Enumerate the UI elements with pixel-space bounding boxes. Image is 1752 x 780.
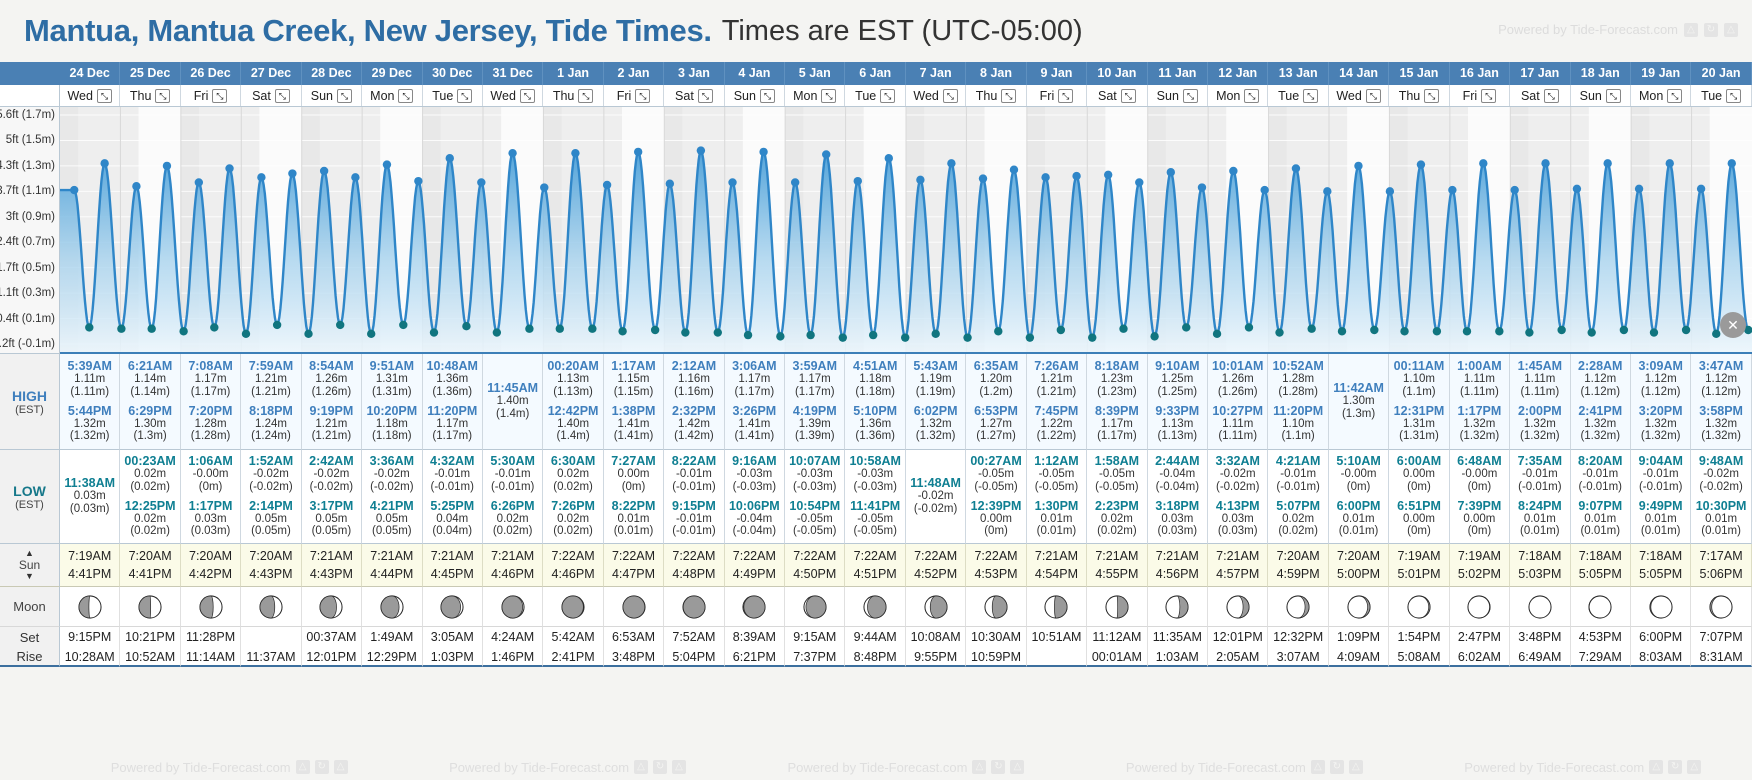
low-tide-time-5-1: 4:21PM — [362, 499, 421, 513]
weekday-cell-25: Sun⤡ — [1571, 85, 1631, 106]
moon-phase-icon-12 — [802, 594, 828, 620]
high-tide-time-11-0: 3:06AM — [725, 359, 784, 373]
sun-cell-9: 7:22AM4:47PM — [604, 544, 664, 587]
high-tide-height-alt-10-1: (1.42m) — [664, 430, 723, 443]
sunrise-time-2: 7:20AM — [181, 547, 240, 565]
high-tide-cell-5: 9:51AM1.31m(1.31m)10:20PM1.18m(1.18m) — [362, 354, 422, 450]
high-tide-height-alt-15-0: (1.2m) — [966, 386, 1025, 399]
moon-cell-0 — [60, 587, 120, 627]
moonset-cell-2: 11:28PM — [181, 627, 241, 647]
expand-day-icon-19[interactable]: ⤡ — [1244, 89, 1259, 103]
low-tide-height-alt-20-0: (-0.01m) — [1268, 481, 1327, 494]
wave-icon-footer-0-2: △ — [334, 760, 348, 774]
sun-cell-7: 7:21AM4:46PM — [483, 544, 543, 587]
moonrise-cell-27: 8:31AM — [1691, 647, 1751, 667]
sun-cell-4: 7:21AM4:43PM — [302, 544, 362, 587]
date-header-19[interactable]: 12 Jan — [1208, 62, 1268, 85]
low-tide-point-27 — [493, 328, 501, 336]
sun-cell-21: 7:20AM5:00PM — [1329, 544, 1389, 587]
expand-day-icon-15[interactable]: ⤡ — [1001, 89, 1016, 103]
high-tide-point-18 — [351, 173, 359, 181]
high-tide-height-alt-22-1: (1.31m) — [1389, 430, 1448, 443]
sunrise-time-17: 7:21AM — [1087, 547, 1146, 565]
moonset-cell-13: 9:44AM — [845, 627, 905, 647]
expand-day-icon-20[interactable]: ⤡ — [1303, 89, 1318, 103]
high-tide-time-20-1: 11:20PM — [1268, 404, 1327, 418]
low-tide-time-5-0: 3:36AM — [362, 454, 421, 468]
high-tide-entry-2-1: 7:20PM1.28m(1.28m) — [181, 402, 240, 447]
y-tick-1: 5ft (1.5m) — [6, 134, 55, 146]
weekday-cell-15: Thu⤡ — [966, 85, 1026, 106]
wind-icon-footer-0-0: △ — [296, 760, 310, 774]
expand-day-icon-1[interactable]: ⤡ — [155, 89, 170, 103]
low-tide-height-10-1: -0.01m — [664, 513, 723, 526]
date-header-11[interactable]: 4 Jan — [725, 62, 785, 85]
date-header-23[interactable]: 16 Jan — [1450, 62, 1510, 85]
expand-day-icon-7[interactable]: ⤡ — [520, 89, 535, 103]
y-tick-0: 5.6ft (1.7m) — [0, 109, 55, 121]
high-tide-height-6-1: 1.17m — [423, 418, 482, 431]
date-header-9[interactable]: 2 Jan — [604, 62, 664, 85]
low-tide-entry-14-0: 11:48AM-0.02m(-0.02m) — [906, 450, 965, 543]
high-tide-entry-15-0: 6:35AM1.20m(1.2m) — [966, 357, 1025, 402]
moonset-cell-22: 1:54PM — [1389, 627, 1449, 647]
sun-cell-23: 7:19AM5:02PM — [1450, 544, 1510, 587]
date-header-16[interactable]: 9 Jan — [1027, 62, 1087, 85]
date-header-10[interactable]: 3 Jan — [664, 62, 724, 85]
date-header-8[interactable]: 1 Jan — [543, 62, 603, 85]
moonrise-cell-23: 6:02AM — [1450, 647, 1510, 667]
expand-day-icon-3[interactable]: ⤡ — [275, 89, 290, 103]
high-tide-time-6-0: 10:48AM — [423, 359, 482, 373]
low-tide-height-alt-1-0: (0.02m) — [120, 481, 179, 494]
high-tide-height-12-1: 1.39m — [785, 418, 844, 431]
low-tide-point-67 — [1119, 325, 1127, 333]
date-header-15[interactable]: 8 Jan — [966, 62, 1026, 85]
moon-phase-icon-27 — [1708, 594, 1734, 620]
low-tide-time-10-1: 9:15PM — [664, 499, 723, 513]
expand-day-icon-0[interactable]: ⤡ — [97, 89, 112, 103]
expand-day-icon-16[interactable]: ⤡ — [1058, 89, 1073, 103]
low-tide-cell-16: 1:12AM-0.05m(-0.05m)1:30PM0.01m(0.01m) — [1027, 450, 1087, 544]
date-header-5[interactable]: 29 Dec — [362, 62, 422, 85]
low-tide-time-10-0: 8:22AM — [664, 454, 723, 468]
high-tide-time-9-1: 1:38PM — [604, 404, 663, 418]
low-tide-point-15 — [304, 330, 312, 338]
low-tide-height-22-0: 0.00m — [1389, 468, 1448, 481]
low-tide-height-6-1: 0.04m — [423, 513, 482, 526]
low-tide-cell-6: 4:32AM-0.01m(-0.01m)5:25PM0.04m(0.04m) — [423, 450, 483, 544]
date-header-13[interactable]: 6 Jan — [845, 62, 905, 85]
low-tide-height-15-1: 0.00m — [966, 513, 1025, 526]
high-tide-entry-3-0: 7:59AM1.21m(1.21m) — [241, 357, 300, 402]
high-tide-point-2 — [100, 159, 108, 167]
moonset-cell-11: 8:39AM — [725, 627, 785, 647]
expand-day-icon-8[interactable]: ⤡ — [578, 89, 593, 103]
date-header-row: 24 Dec25 Dec26 Dec27 Dec28 Dec29 Dec30 D… — [0, 62, 1752, 85]
date-header-6[interactable]: 30 Dec — [423, 62, 483, 85]
high-tide-point-10 — [225, 164, 233, 172]
low-tide-entry-20-0: 4:21AM-0.01m(-0.01m) — [1268, 452, 1327, 497]
expand-day-icon-11[interactable]: ⤡ — [760, 89, 775, 103]
low-tide-height-26-1: 0.01m — [1631, 513, 1690, 526]
high-tide-time-13-0: 4:51AM — [845, 359, 904, 373]
low-tide-cell-27: 9:48AM-0.02m(-0.02m)10:30PM0.01m(0.01m) — [1691, 450, 1751, 544]
high-tide-cell-27: 3:47AM1.12m(1.12m)3:58PM1.32m(1.32m) — [1691, 354, 1751, 450]
high-tide-height-23-0: 1.11m — [1450, 373, 1509, 386]
low-tide-point-5 — [147, 325, 155, 333]
high-tide-height-alt-14-1: (1.32m) — [906, 430, 965, 443]
high-tide-entry-25-0: 2:28AM1.12m(1.12m) — [1571, 357, 1630, 402]
sunset-time-14: 4:52PM — [906, 565, 965, 583]
weekday-cell-8: Thu⤡ — [543, 85, 603, 106]
moonset-cell-1: 10:21PM — [120, 627, 180, 647]
high-tide-cell-26: 3:09AM1.12m(1.12m)3:20PM1.32m(1.32m) — [1631, 354, 1691, 450]
expand-day-icon-6[interactable]: ⤡ — [457, 89, 472, 103]
low-tide-point-57 — [963, 333, 971, 341]
moonset-cell-21: 1:09PM — [1329, 627, 1389, 647]
high-tide-height-3-0: 1.21m — [241, 373, 300, 386]
low-tide-entry-18-0: 2:44AM-0.04m(-0.04m) — [1148, 452, 1207, 497]
high-tide-entry-22-1: 12:31PM1.31m(1.31m) — [1389, 402, 1448, 447]
high-tide-height-alt-14-0: (1.19m) — [906, 386, 965, 399]
low-tide-height-3-1: 0.05m — [241, 513, 300, 526]
weekday-label-0: Wed — [67, 85, 92, 106]
expand-day-icon-26[interactable]: ⤡ — [1667, 89, 1682, 103]
moon-phase-icon-16 — [1043, 594, 1069, 620]
moon-phase-icon-26 — [1648, 594, 1674, 620]
moon-phase-icon-2 — [198, 594, 224, 620]
sun-cell-18: 7:21AM4:56PM — [1148, 544, 1208, 587]
sunrise-time-24: 7:18AM — [1510, 547, 1569, 565]
high-tide-entry-11-1: 3:26PM1.41m(1.41m) — [725, 402, 784, 447]
sunset-time-24: 5:03PM — [1510, 565, 1569, 583]
sunset-time-1: 4:41PM — [120, 565, 179, 583]
moon-cell-13 — [845, 587, 905, 627]
low-tide-height-1-1: 0.02m — [120, 513, 179, 526]
high-tide-entry-9-1: 1:38PM1.41m(1.41m) — [604, 402, 663, 447]
low-tide-height-alt-8-0: (0.02m) — [543, 481, 602, 494]
high-tide-time-15-1: 6:53PM — [966, 404, 1025, 418]
date-header-24[interactable]: 17 Jan — [1510, 62, 1570, 85]
low-tide-height-alt-12-0: (-0.03m) — [785, 481, 844, 494]
high-tide-entry-26-1: 3:20PM1.32m(1.32m) — [1631, 402, 1690, 447]
tide-chart-row: 5.6ft (1.7m)5ft (1.5m)4.3ft (1.3m)3.7ft … — [0, 107, 1752, 354]
high-tide-entry-10-1: 2:32PM1.42m(1.42m) — [664, 402, 723, 447]
moon-cell-8 — [543, 587, 603, 627]
low-tide-point-73 — [1213, 330, 1221, 338]
sunset-time-5: 4:44PM — [362, 565, 421, 583]
low-tide-cell-4: 2:42AM-0.02m(-0.02m)3:17PM0.05m(0.05m) — [302, 450, 362, 544]
date-header-20[interactable]: 13 Jan — [1268, 62, 1328, 85]
moon-phase-icon-8 — [560, 594, 586, 620]
low-tide-point-7 — [179, 327, 187, 335]
close-overlay-button[interactable]: ✕ — [1720, 312, 1746, 338]
high-tide-height-18-1: 1.13m — [1148, 418, 1207, 431]
low-tide-entry-4-1: 3:17PM0.05m(0.05m) — [302, 497, 361, 542]
expand-day-icon-2[interactable]: ⤡ — [212, 89, 227, 103]
high-tide-height-16-0: 1.21m — [1027, 373, 1086, 386]
moon-phase-icon-11 — [741, 594, 767, 620]
moonset-cell-8: 5:42AM — [543, 627, 603, 647]
high-tide-entry-19-1: 10:27PM1.11m(1.11m) — [1208, 402, 1267, 447]
moon-cell-18 — [1148, 587, 1208, 627]
high-tide-point-16 — [320, 167, 328, 175]
date-header-14[interactable]: 7 Jan — [906, 62, 966, 85]
moon-cell-22 — [1389, 587, 1449, 627]
low-tide-height-4-0: -0.02m — [302, 468, 361, 481]
low-tide-point-81 — [1338, 327, 1346, 335]
high-tide-entry-16-0: 7:26AM1.21m(1.21m) — [1027, 357, 1086, 402]
low-tide-height-0-0: 0.03m — [60, 490, 119, 503]
weekday-label-4: Sun — [311, 85, 333, 106]
low-tide-height-alt-19-0: (-0.02m) — [1208, 481, 1267, 494]
low-tide-height-alt-25-0: (-0.01m) — [1571, 481, 1630, 494]
moonset-cell-0: 9:15PM — [60, 627, 120, 647]
high-tide-height-alt-3-1: (1.24m) — [241, 430, 300, 443]
low-tide-point-65 — [1088, 333, 1096, 341]
high-tide-entry-11-0: 3:06AM1.17m(1.17m) — [725, 357, 784, 402]
date-header-1[interactable]: 25 Dec — [120, 62, 180, 85]
high-tide-height-2-0: 1.17m — [181, 373, 240, 386]
expand-day-icon-4[interactable]: ⤡ — [337, 89, 352, 103]
low-tide-cell-24: 7:35AM-0.01m(-0.01m)8:24PM0.01m(0.01m) — [1510, 450, 1570, 544]
high-tide-point-62 — [1041, 173, 1049, 181]
high-tide-entry-18-0: 9:10AM1.25m(1.25m) — [1148, 357, 1207, 402]
high-tide-label: HIGH (EST) — [0, 354, 60, 450]
date-header-17[interactable]: 10 Jan — [1087, 62, 1147, 85]
low-tide-cell-5: 3:36AM-0.02m(-0.02m)4:21PM0.05m(0.05m) — [362, 450, 422, 544]
expand-day-icon-25[interactable]: ⤡ — [1606, 89, 1621, 103]
low-tide-time-11-1: 10:06PM — [725, 499, 784, 513]
low-tide-height-alt-23-1: (0m) — [1450, 525, 1509, 538]
moonrise-cell-16 — [1027, 647, 1087, 667]
weekday-label-26: Mon — [1639, 85, 1663, 106]
high-tide-entry-3-1: 8:18PM1.24m(1.24m) — [241, 402, 300, 447]
high-tide-height-alt-12-0: (1.17m) — [785, 386, 844, 399]
expand-day-icon-10[interactable]: ⤡ — [698, 89, 713, 103]
weekday-cell-19: Mon⤡ — [1208, 85, 1268, 106]
low-tide-time-2-1: 1:17PM — [181, 499, 240, 513]
y-tick-7: 1.1ft (0.3m) — [0, 287, 55, 299]
high-tide-time-9-0: 1:17AM — [604, 359, 663, 373]
expand-day-icon-12[interactable]: ⤡ — [821, 89, 836, 103]
high-tide-time-27-1: 3:58PM — [1691, 404, 1750, 418]
weekday-cell-26: Mon⤡ — [1631, 85, 1691, 106]
high-label-text: HIGH — [12, 388, 47, 404]
high-tide-height-alt-15-1: (1.27m) — [966, 430, 1025, 443]
low-tide-point-17 — [336, 321, 344, 329]
high-tide-entry-20-1: 11:20PM1.10m(1.1m) — [1268, 402, 1327, 447]
low-tide-height-alt-18-1: (0.03m) — [1148, 525, 1207, 538]
date-header-3[interactable]: 27 Dec — [241, 62, 301, 85]
moonrise-cell-22: 5:08AM — [1389, 647, 1449, 667]
weekday-cell-24: Sat⤡ — [1510, 85, 1570, 106]
low-tide-point-47 — [806, 331, 814, 339]
high-tide-height-alt-2-0: (1.17m) — [181, 386, 240, 399]
footer-watermark-0: Powered by Tide-Forecast.com△↻△ — [111, 760, 348, 775]
high-tide-height-23-1: 1.32m — [1450, 418, 1509, 431]
low-tide-cell-13: 10:58AM-0.03m(-0.03m)11:41PM-0.05m(-0.05… — [845, 450, 905, 544]
low-tide-cell-22: 6:00AM0.00m(0m)6:51PM0.00m(0m) — [1389, 450, 1449, 544]
high-tide-entry-21-0: 11:42AM1.30m(1.3m) — [1329, 354, 1388, 449]
sunset-time-10: 4:48PM — [664, 565, 723, 583]
date-header-7[interactable]: 31 Dec — [483, 62, 543, 85]
weekday-label-18: Sun — [1157, 85, 1179, 106]
high-tide-point-42 — [728, 178, 736, 186]
low-tide-entry-4-0: 2:42AM-0.02m(-0.02m) — [302, 452, 361, 497]
weekday-label-7: Wed — [490, 85, 515, 106]
moon-cell-14 — [906, 587, 966, 627]
high-tide-entry-24-1: 2:00PM1.32m(1.32m) — [1510, 402, 1569, 447]
low-tide-time-3-0: 1:52AM — [241, 454, 300, 468]
high-tide-height-alt-4-1: (1.21m) — [302, 430, 361, 443]
high-tide-point-86 — [1417, 160, 1425, 168]
low-tide-height-7-1: 0.02m — [483, 513, 542, 526]
date-header-0[interactable]: 24 Dec — [60, 62, 120, 85]
footer-watermark-1: Powered by Tide-Forecast.com△↻△ — [449, 760, 686, 775]
high-tide-entry-13-1: 5:10PM1.36m(1.36m) — [845, 402, 904, 447]
low-tide-entry-15-1: 12:39PM0.00m(0m) — [966, 497, 1025, 542]
moon-cell-2 — [181, 587, 241, 627]
high-tide-point-76 — [1260, 186, 1268, 194]
high-tide-entry-22-0: 00:11AM1.10m(1.1m) — [1389, 357, 1448, 402]
high-tide-entry-13-0: 4:51AM1.18m(1.18m) — [845, 357, 904, 402]
low-tide-time-13-1: 11:41PM — [845, 499, 904, 513]
low-tide-time-6-0: 4:32AM — [423, 454, 482, 468]
expand-day-icon-13[interactable]: ⤡ — [880, 89, 895, 103]
high-tide-time-24-0: 1:45AM — [1510, 359, 1569, 373]
high-tide-time-27-0: 3:47AM — [1691, 359, 1750, 373]
high-tide-height-alt-23-1: (1.32m) — [1450, 430, 1509, 443]
date-header-22[interactable]: 15 Jan — [1389, 62, 1449, 85]
high-tide-cell-1: 6:21AM1.14m(1.14m)6:29PM1.30m(1.3m) — [120, 354, 180, 450]
weekday-label-11: Sun — [734, 85, 756, 106]
low-tide-point-21 — [399, 321, 407, 329]
expand-day-icon-14[interactable]: ⤡ — [943, 89, 958, 103]
high-tide-time-18-1: 9:33PM — [1148, 404, 1207, 418]
low-tide-time-23-1: 7:39PM — [1450, 499, 1509, 513]
expand-day-icon-23[interactable]: ⤡ — [1481, 89, 1496, 103]
weekday-label-12: Mon — [793, 85, 817, 106]
high-tide-cell-21: 11:42AM1.30m(1.3m) — [1329, 354, 1389, 450]
high-tide-height-27-1: 1.32m — [1691, 418, 1750, 431]
low-tide-cell-3: 1:52AM-0.02m(-0.02m)2:14PM0.05m(0.05m) — [241, 450, 301, 544]
expand-day-icon-5[interactable]: ⤡ — [398, 89, 413, 103]
sunset-time-4: 4:43PM — [302, 565, 361, 583]
low-tide-point-41 — [714, 328, 722, 336]
date-header-12[interactable]: 5 Jan — [785, 62, 845, 85]
date-header-2[interactable]: 26 Dec — [181, 62, 241, 85]
y-tick-4: 3ft (0.9m) — [6, 211, 55, 223]
refresh-icon-footer-0-1: ↻ — [315, 760, 329, 774]
high-tide-point-56 — [947, 159, 955, 167]
sun-cell-0: 7:19AM4:41PM — [60, 544, 120, 587]
date-header-26[interactable]: 19 Jan — [1631, 62, 1691, 85]
low-tide-height-16-1: 0.01m — [1027, 513, 1086, 526]
tide-curve-chart — [60, 107, 1752, 354]
weekday-cell-16: Fri⤡ — [1027, 85, 1087, 106]
weekday-cell-2: Fri⤡ — [181, 85, 241, 106]
weekday-cell-3: Sat⤡ — [241, 85, 301, 106]
expand-day-icon-27[interactable]: ⤡ — [1726, 89, 1741, 103]
expand-day-icon-18[interactable]: ⤡ — [1183, 89, 1198, 103]
high-tide-point-20 — [383, 160, 391, 168]
low-tide-height-alt-5-1: (0.05m) — [362, 525, 421, 538]
high-tide-cell-7: 11:45AM1.40m(1.4m) — [483, 354, 543, 450]
sun-cell-3: 7:20AM4:43PM — [241, 544, 301, 587]
weekday-label-1: Thu — [130, 85, 152, 106]
high-tide-entry-5-1: 10:20PM1.18m(1.18m) — [362, 402, 421, 447]
sunset-time-12: 4:50PM — [785, 565, 844, 583]
date-header-4[interactable]: 28 Dec — [302, 62, 362, 85]
sun-cell-1: 7:20AM4:41PM — [120, 544, 180, 587]
high-tide-cell-16: 7:26AM1.21m(1.21m)7:45PM1.22m(1.22m) — [1027, 354, 1087, 450]
expand-day-icon-17[interactable]: ⤡ — [1121, 89, 1136, 103]
sun-cell-8: 7:22AM4:46PM — [543, 544, 603, 587]
date-header-25[interactable]: 18 Jan — [1571, 62, 1631, 85]
high-tide-height-alt-19-1: (1.11m) — [1208, 430, 1267, 443]
y-tick-3: 3.7ft (1.1m) — [0, 185, 55, 197]
date-header-18[interactable]: 11 Jan — [1148, 62, 1208, 85]
expand-day-icon-9[interactable]: ⤡ — [635, 89, 650, 103]
high-tide-point-6 — [163, 162, 171, 170]
high-tide-entry-8-1: 12:42PM1.40m(1.4m) — [543, 402, 602, 447]
low-tide-cell-7: 5:30AM-0.01m(-0.01m)6:26PM0.02m(0.02m) — [483, 450, 543, 544]
expand-day-icon-21[interactable]: ⤡ — [1366, 89, 1381, 103]
low-tide-height-alt-7-1: (0.02m) — [483, 525, 542, 538]
high-tide-entry-0-0: 5:39AM1.11m(1.11m) — [60, 357, 119, 402]
low-tide-point-33 — [588, 325, 596, 333]
moon-label: Moon — [0, 587, 60, 627]
sunrise-time-12: 7:22AM — [785, 547, 844, 565]
low-tide-cell-0: 11:38AM0.03m(0.03m) — [60, 450, 120, 544]
expand-day-icon-22[interactable]: ⤡ — [1424, 89, 1439, 103]
high-tide-height-27-0: 1.12m — [1691, 373, 1750, 386]
moon-phase-icon-22 — [1406, 594, 1432, 620]
moonrise-cell-1: 10:52AM — [120, 647, 180, 667]
date-header-27[interactable]: 20 Jan — [1691, 62, 1751, 85]
high-tide-height-alt-8-0: (1.13m) — [543, 386, 602, 399]
moonset-cell-9: 6:53AM — [604, 627, 664, 647]
high-tide-point-34 — [603, 181, 611, 189]
low-tide-entry-8-0: 6:30AM0.02m(0.02m) — [543, 452, 602, 497]
weekday-cell-12: Mon⤡ — [785, 85, 845, 106]
expand-day-icon-24[interactable]: ⤡ — [1544, 89, 1559, 103]
high-tide-entry-25-1: 2:41PM1.32m(1.32m) — [1571, 402, 1630, 447]
high-tide-height-21-0: 1.30m — [1329, 395, 1388, 408]
date-header-21[interactable]: 14 Jan — [1329, 62, 1389, 85]
sun-cell-10: 7:22AM4:48PM — [664, 544, 724, 587]
sun-cell-13: 7:22AM4:51PM — [845, 544, 905, 587]
low-tide-entry-11-0: 9:16AM-0.03m(-0.03m) — [725, 452, 784, 497]
high-tide-time-2-0: 7:08AM — [181, 359, 240, 373]
wind-icon-footer-2-0: △ — [972, 760, 986, 774]
sunrise-time-7: 7:21AM — [483, 547, 542, 565]
high-tide-height-14-1: 1.32m — [906, 418, 965, 431]
high-tide-time-22-0: 00:11AM — [1389, 359, 1448, 373]
weekday-cell-23: Fri⤡ — [1450, 85, 1510, 106]
high-tide-height-9-0: 1.15m — [604, 373, 663, 386]
low-tide-point-39 — [681, 328, 689, 336]
page-subtitle: Times are EST (UTC-05:00) — [722, 15, 1083, 48]
high-tide-point-66 — [1104, 171, 1112, 179]
weekday-cell-11: Sun⤡ — [725, 85, 785, 106]
high-tide-height-alt-20-0: (1.28m) — [1268, 386, 1327, 399]
high-tide-point-58 — [979, 174, 987, 182]
sunset-time-25: 5:05PM — [1571, 565, 1630, 583]
low-tide-height-21-1: 0.01m — [1329, 513, 1388, 526]
